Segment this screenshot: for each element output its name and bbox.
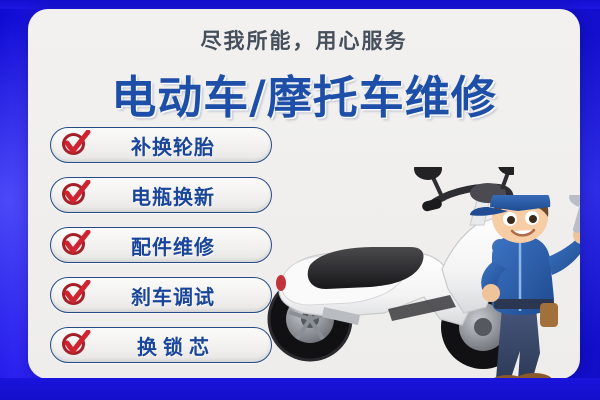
check-circle-icon: [61, 281, 89, 309]
wrench-icon: [569, 195, 580, 234]
feature-item-4[interactable]: 刹车调试: [50, 277, 272, 313]
left-hand: [482, 284, 500, 302]
feature-item-5[interactable]: 换锁芯: [50, 327, 272, 363]
mechanic-right-arm: [548, 235, 580, 275]
feature-label: 刹车调试: [89, 281, 271, 310]
check-circle-icon: [61, 331, 89, 359]
feature-item-2[interactable]: 电瓶换新: [50, 177, 272, 213]
mechanic-legs: [496, 307, 540, 379]
check-circle-icon: [61, 131, 89, 159]
tool-pouch: [540, 303, 558, 327]
feature-label: 补换轮胎: [89, 131, 271, 160]
check-circle-icon: [61, 231, 89, 259]
feature-label: 电瓶换新: [89, 181, 271, 210]
top-blue-band: [0, 0, 600, 9]
feature-label: 换锁芯: [89, 331, 271, 360]
mechanic-illustration: [458, 195, 580, 379]
check-circle-icon: [61, 181, 89, 209]
feature-item-3[interactable]: 配件维修: [50, 227, 272, 263]
feature-list: 补换轮胎 电瓶换新 配件维修: [50, 127, 290, 377]
feature-item-1[interactable]: 补换轮胎: [50, 127, 272, 163]
content-card: 尽我所能，用心服务 电动车/摩托车维修 补换轮胎: [28, 9, 580, 379]
poster-subtitle: 尽我所能，用心服务: [28, 25, 580, 55]
poster-canvas: 尽我所能，用心服务 电动车/摩托车维修 补换轮胎: [0, 0, 600, 400]
left-mirror: [414, 167, 444, 201]
feature-label: 配件维修: [89, 231, 271, 260]
bottom-blue-band: [0, 378, 600, 400]
poster-title: 电动车/摩托车维修: [28, 61, 580, 126]
